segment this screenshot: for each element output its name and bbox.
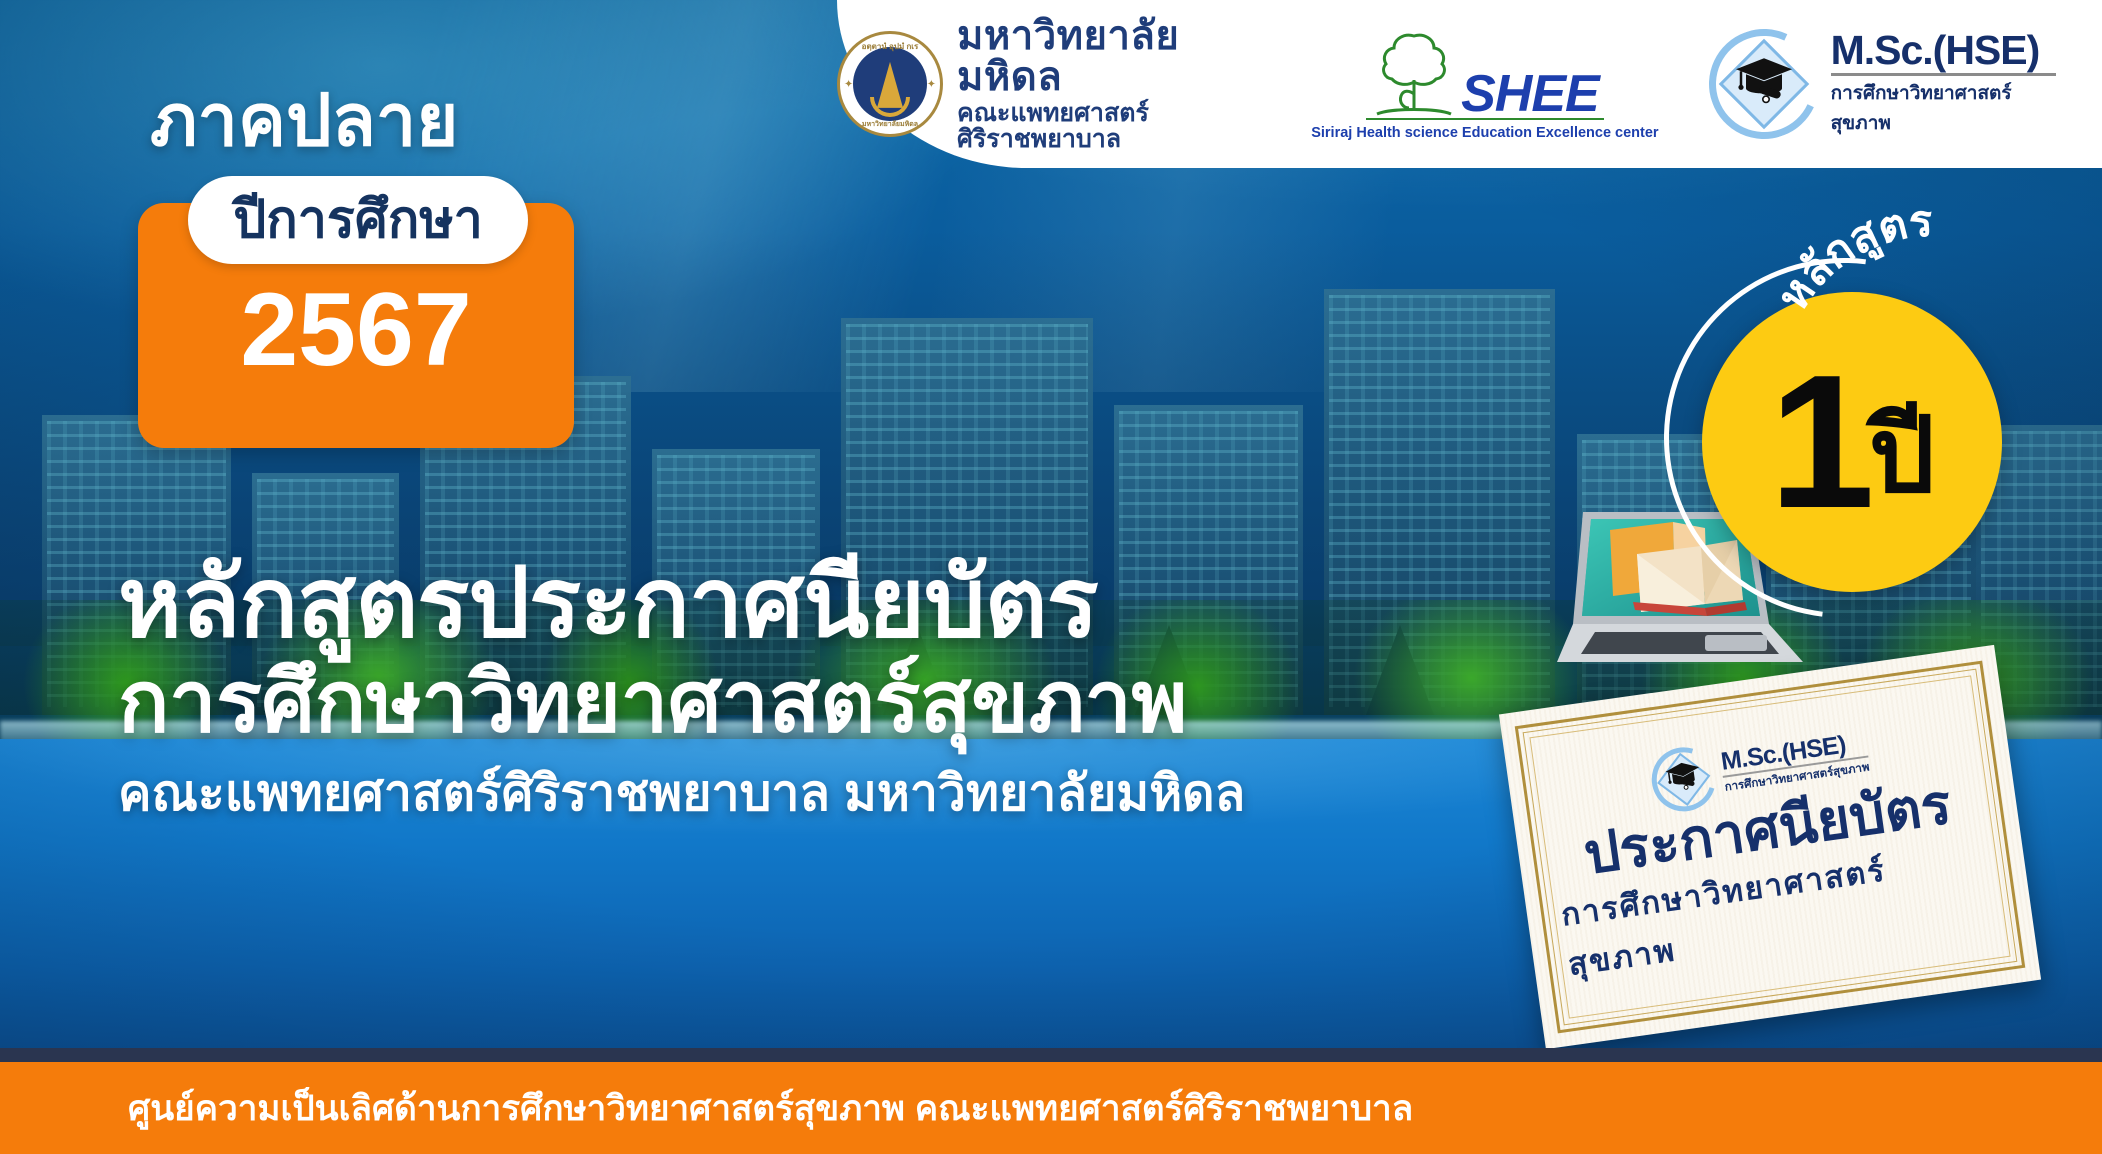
seal-star-right-icon: ✦ [927,78,936,91]
shee-logo: SHEE Siriraj Health science Education Ex… [1311,28,1658,141]
mahidol-logo: อตฺตานํ อุปมํ กเร มหาวิทยาลัยมหิดล ✦ ✦ ม… [837,16,1265,153]
msc-hse-logo: M.Sc.(HSE) การศึกษาวิทยาศาสตร์สุขภาพ [1705,25,2056,143]
seal-ring-top-text: อตฺตานํ อุปมํ กเร [862,40,919,53]
footer-text: ศูนย์ความเป็นเลิศด้านการศึกษาวิทยาศาสตร์… [128,1081,1413,1136]
academic-year-pill-label: ปีการศึกษา [233,194,483,246]
footer-bar: ศูนย์ความเป็นเลิศด้านการศึกษาวิทยาศาสตร์… [0,1062,2102,1154]
msc-underline [1831,73,2056,76]
headline-line-3: คณะแพทยศาสตร์ศิริราชพยาบาล มหาวิทยาลัยมห… [118,763,1538,823]
shee-wordmark: SHEE [1461,70,1599,119]
msc-title: M.Sc.(HSE) [1831,30,2056,71]
seal-ring-bottom-text: มหาวิทยาลัยมหิดล [862,119,918,130]
tree-icon [1371,28,1457,120]
mahidol-name: มหาวิทยาลัยมหิดล [957,16,1265,98]
msc-subtitle: การศึกษาวิทยาศาสตร์สุขภาพ [1831,78,2056,138]
navy-divider-strip [0,1048,2102,1062]
headline-line-2: การศึกษาวิทยาศาสตร์สุขภาพ [118,657,1538,749]
graduation-cap-badge-icon [1705,25,1823,143]
curved-program-text: หลักสูตร [1768,196,1935,319]
shee-tagline: Siriraj Health science Education Excelle… [1311,125,1658,141]
certificate-graduation-cap-icon [1663,756,1705,795]
graduation-cap-icon [1733,52,1795,108]
duration-badge: 1 ปี หลักสูตร [1660,270,2060,670]
certificate-card: M.Sc.(HSE) การศึกษาวิทยาศาสตร์สุขภาพ ประ… [1499,645,2041,1049]
academic-year-value: 2567 [138,278,574,382]
term-label: ภาคปลาย [150,62,459,177]
certificate-cap-badge-icon [1646,740,1723,817]
mahidol-faculty: คณะแพทยศาสตร์ [957,101,1265,127]
promo-banner: อตฺตานํ อุปมํ กเร มหาวิทยาลัยมหิดล ✦ ✦ ม… [0,0,2102,1154]
academic-year-pill: ปีการศึกษา [188,176,528,264]
headline-line-1: หลักสูตรประกาศนียบัตร [118,552,1538,655]
mahidol-hospital: ศิริราชพยาบาล [957,127,1265,153]
seal-star-left-icon: ✦ [844,78,853,91]
headline-block: หลักสูตรประกาศนียบัตร การศึกษาวิทยาศาสตร… [118,552,1538,823]
mahidol-seal-icon: อตฺตานํ อุปมํ กเร มหาวิทยาลัยมหิดล ✦ ✦ [837,31,943,137]
logo-header-panel: อตฺตานํ อุปมํ กเร มหาวิทยาลัยมหิดล ✦ ✦ ม… [837,0,2102,168]
curved-program-label: หลักสูตร [1778,204,2102,534]
shee-underline [1366,118,1604,120]
